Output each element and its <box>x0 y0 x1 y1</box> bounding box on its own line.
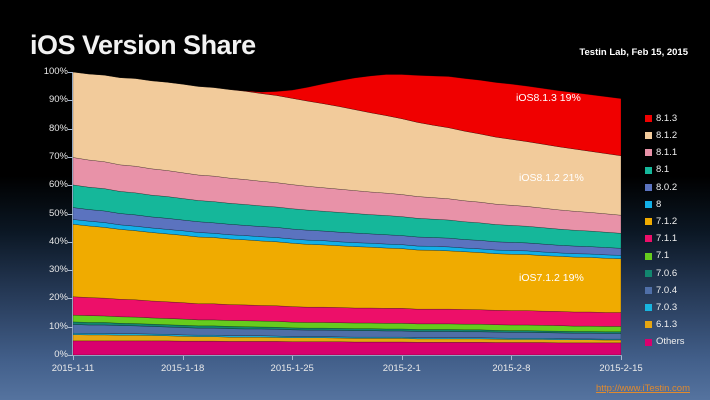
plot-area <box>73 72 621 355</box>
y-axis-tick-mark <box>68 270 73 271</box>
x-axis-tick-mark <box>183 356 184 360</box>
x-axis-tick-label: 2015-2-15 <box>599 363 642 374</box>
y-axis-tick-label: 80% <box>6 123 68 134</box>
legend-swatch-icon <box>645 167 652 174</box>
legend-item[interactable]: 8.1.3 <box>645 110 709 127</box>
legend-item-label: 8 <box>656 200 661 210</box>
legend-item[interactable]: 6.1.3 <box>645 316 709 333</box>
legend-item-label: Others <box>656 337 685 347</box>
x-axis-tick-mark <box>402 356 403 360</box>
y-axis-tick-mark <box>68 214 73 215</box>
legend-swatch-icon <box>645 270 652 277</box>
area-series-others <box>73 341 621 355</box>
legend-item-label: 8.0.2 <box>656 183 677 193</box>
y-axis-tick-label: 30% <box>6 264 68 275</box>
legend-swatch-icon <box>645 201 652 208</box>
legend-item-label: 7.1.2 <box>656 217 677 227</box>
legend-item-label: 7.1 <box>656 251 669 261</box>
legend-item-label: 7.0.6 <box>656 269 677 279</box>
legend-item-label: 7.0.3 <box>656 303 677 313</box>
y-axis-tick-mark <box>68 100 73 101</box>
y-axis-tick-mark <box>68 185 73 186</box>
x-axis-tick-mark <box>292 356 293 360</box>
legend-item-label: 7.0.4 <box>656 286 677 296</box>
y-axis-tick-mark <box>68 298 73 299</box>
legend-swatch-icon <box>645 184 652 191</box>
y-axis-tick-label: 90% <box>6 94 68 105</box>
chart-legend: 8.1.38.1.28.1.18.18.0.287.1.27.1.17.17.0… <box>645 110 709 351</box>
y-axis-tick-mark <box>68 327 73 328</box>
legend-item-label: 7.1.1 <box>656 234 677 244</box>
y-axis-tick-label: 100% <box>6 66 68 77</box>
website-link[interactable]: http://www.iTestin.com <box>596 383 690 394</box>
legend-item[interactable]: 8.1 <box>645 162 709 179</box>
y-axis-tick-label: 70% <box>6 151 68 162</box>
x-axis-tick-label: 2015-1-11 <box>52 363 95 374</box>
x-axis-tick-label: 2015-1-25 <box>271 363 314 374</box>
legend-item-label: 8.1.3 <box>656 114 677 124</box>
x-axis-tick-label: 2015-1-18 <box>161 363 204 374</box>
legend-item[interactable]: Others <box>645 333 709 350</box>
x-axis-tick-label: 2015-2-8 <box>492 363 530 374</box>
chart-page: iOS Version Share Testin Lab, Feb 15, 20… <box>0 0 710 400</box>
legend-item-label: 8.1 <box>656 165 669 175</box>
legend-item-label: 8.1.2 <box>656 131 677 141</box>
x-axis-tick-label: 2015-2-1 <box>383 363 421 374</box>
chart-subtitle: Testin Lab, Feb 15, 2015 <box>579 47 688 58</box>
y-axis-tick-mark <box>68 242 73 243</box>
y-axis-tick-label: 40% <box>6 236 68 247</box>
y-axis-tick-mark <box>68 157 73 158</box>
y-axis-tick-label: 60% <box>6 179 68 190</box>
y-axis-tick-label: 10% <box>6 321 68 332</box>
y-axis-tick-mark <box>68 129 73 130</box>
y-axis-tick-label: 50% <box>6 208 68 219</box>
y-axis-tick-mark <box>68 72 73 73</box>
legend-swatch-icon <box>645 132 652 139</box>
legend-swatch-icon <box>645 149 652 156</box>
legend-swatch-icon <box>645 115 652 122</box>
legend-item-label: 6.1.3 <box>656 320 677 330</box>
legend-swatch-icon <box>645 253 652 260</box>
legend-item[interactable]: 7.1.1 <box>645 230 709 247</box>
legend-swatch-icon <box>645 304 652 311</box>
y-axis-tick-label: 20% <box>6 292 68 303</box>
legend-swatch-icon <box>645 218 652 225</box>
legend-item[interactable]: 7.0.4 <box>645 282 709 299</box>
legend-item[interactable]: 8 <box>645 196 709 213</box>
legend-item[interactable]: 8.1.1 <box>645 144 709 161</box>
legend-item[interactable]: 7.1.2 <box>645 213 709 230</box>
legend-item-label: 8.1.1 <box>656 148 677 158</box>
x-axis-tick-mark <box>621 356 622 360</box>
x-axis-tick-mark <box>73 356 74 360</box>
x-axis-tick-mark <box>511 356 512 360</box>
legend-item[interactable]: 8.1.2 <box>645 127 709 144</box>
legend-swatch-icon <box>645 287 652 294</box>
legend-swatch-icon <box>645 339 652 346</box>
y-axis: 0%10%20%30%40%50%60%70%80%90%100% <box>0 0 68 400</box>
y-axis-tick-label: 0% <box>6 349 68 360</box>
legend-item[interactable]: 7.1 <box>645 248 709 265</box>
legend-swatch-icon <box>645 321 652 328</box>
stacked-area-chart <box>73 72 621 355</box>
x-axis-line <box>72 355 622 356</box>
legend-swatch-icon <box>645 235 652 242</box>
legend-item[interactable]: 7.0.3 <box>645 299 709 316</box>
legend-item[interactable]: 7.0.6 <box>645 265 709 282</box>
legend-item[interactable]: 8.0.2 <box>645 179 709 196</box>
